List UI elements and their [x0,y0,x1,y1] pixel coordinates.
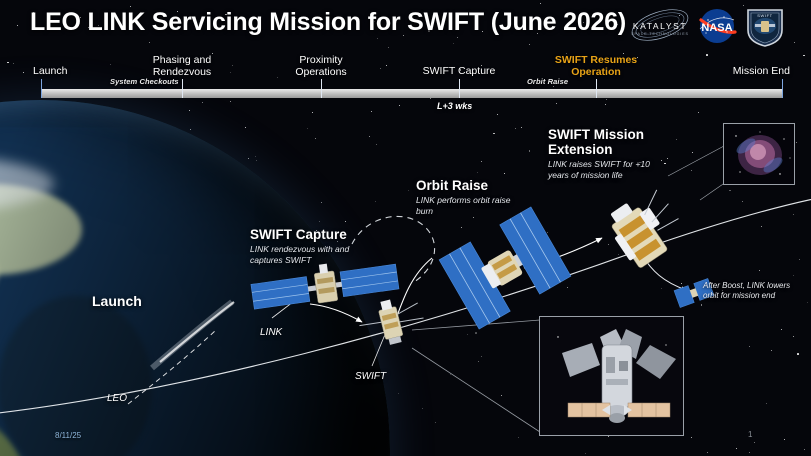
leo-orbit-label: LEO [107,393,127,404]
link-vehicle [356,294,426,354]
link-label: LINK [260,327,282,338]
callout-heading: Orbit Raise [416,178,510,193]
mission-extension-stack [602,196,682,276]
satellite-inset [539,316,684,436]
callout-description: LINK raises SWIFT for +10 years of missi… [548,159,650,180]
slide-canvas: LEO LINK Servicing Mission for SWIFT (Ju… [0,0,811,456]
nebula-inset [723,123,795,185]
callout-description: LINK rendezvous with and captures SWIFT [250,244,349,265]
callout-orbit-raise: Orbit RaiseLINK performs orbit raise bur… [416,178,510,216]
launch-ascent-path [128,330,216,404]
orbit-raise-stack [440,216,570,321]
callout-heading: SWIFT Capture [250,227,349,242]
callout-heading: SWIFT Mission Extension [548,127,650,157]
after-boost-note: After Boost, LINK lowers orbit for missi… [703,281,790,301]
launch-label: Launch [92,293,142,309]
callout-description: LINK performs orbit raise burn [416,195,510,216]
satellite-inset-connector-b [412,348,540,432]
callout-swift-mission-extension: SWIFT Mission ExtensionLINK raises SWIFT… [548,127,650,180]
trajectory-layer [0,0,811,456]
callout-swift-capture: SWIFT CaptureLINK rendezvous with and ca… [250,227,349,265]
nebula-inset-connector-a [668,146,724,176]
page-number: 1 [748,430,752,439]
date-stamp: 8/11/25 [55,431,81,440]
swift-label: SWIFT [355,371,386,382]
